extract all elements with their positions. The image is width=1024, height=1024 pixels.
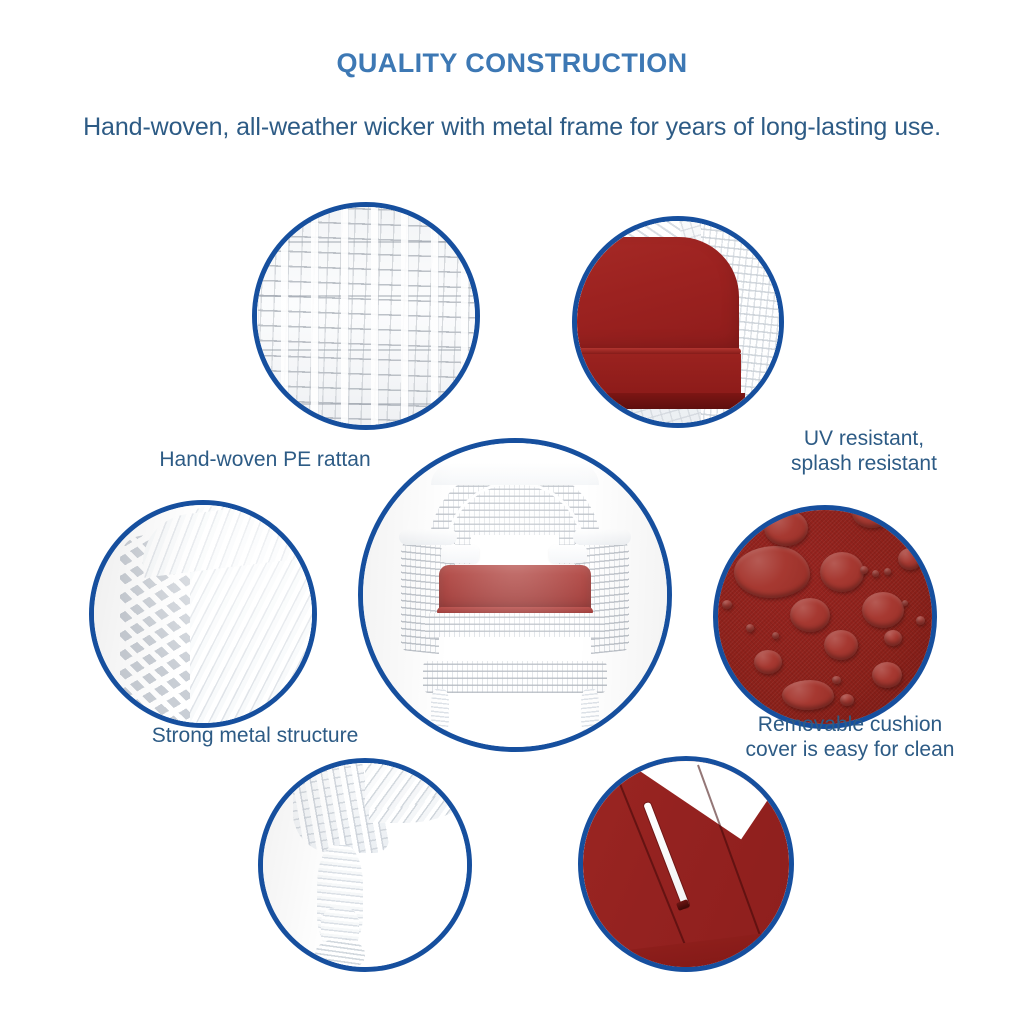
- cushion-zipper-photo: [578, 756, 794, 972]
- chair-leg-photo: [258, 758, 472, 972]
- metal-structure-photo: [89, 500, 317, 728]
- caption-removable-cushion-cover: Removable cushion cover is easy for clea…: [690, 712, 1010, 762]
- infographic-canvas: QUALITY CONSTRUCTION Hand-woven, all-wea…: [0, 0, 1024, 1024]
- feature-circle-chair-leg-detail: [258, 758, 472, 972]
- page-title: QUALITY CONSTRUCTION: [0, 48, 1024, 79]
- chair-product-photo: [358, 438, 672, 752]
- water-droplets-photo: [713, 505, 937, 729]
- page-subtitle: Hand-woven, all-weather wicker with meta…: [0, 113, 1024, 142]
- feature-circle-uv-splash-resistant: [572, 216, 784, 428]
- caption-uv-splash-resistant: UV resistant, splash resistant: [706, 426, 1022, 476]
- hand-woven-rattan-photo: [252, 202, 480, 430]
- uv-splash-cushion-photo: [572, 216, 784, 428]
- feature-circle-removable-cushion-cover: [713, 505, 937, 729]
- feature-circle-product-overview: [358, 438, 672, 752]
- feature-circle-cushion-zipper: [578, 756, 794, 972]
- feature-circle-strong-metal-structure: [89, 500, 317, 728]
- feature-circle-hand-woven-pe-rattan: [252, 202, 480, 430]
